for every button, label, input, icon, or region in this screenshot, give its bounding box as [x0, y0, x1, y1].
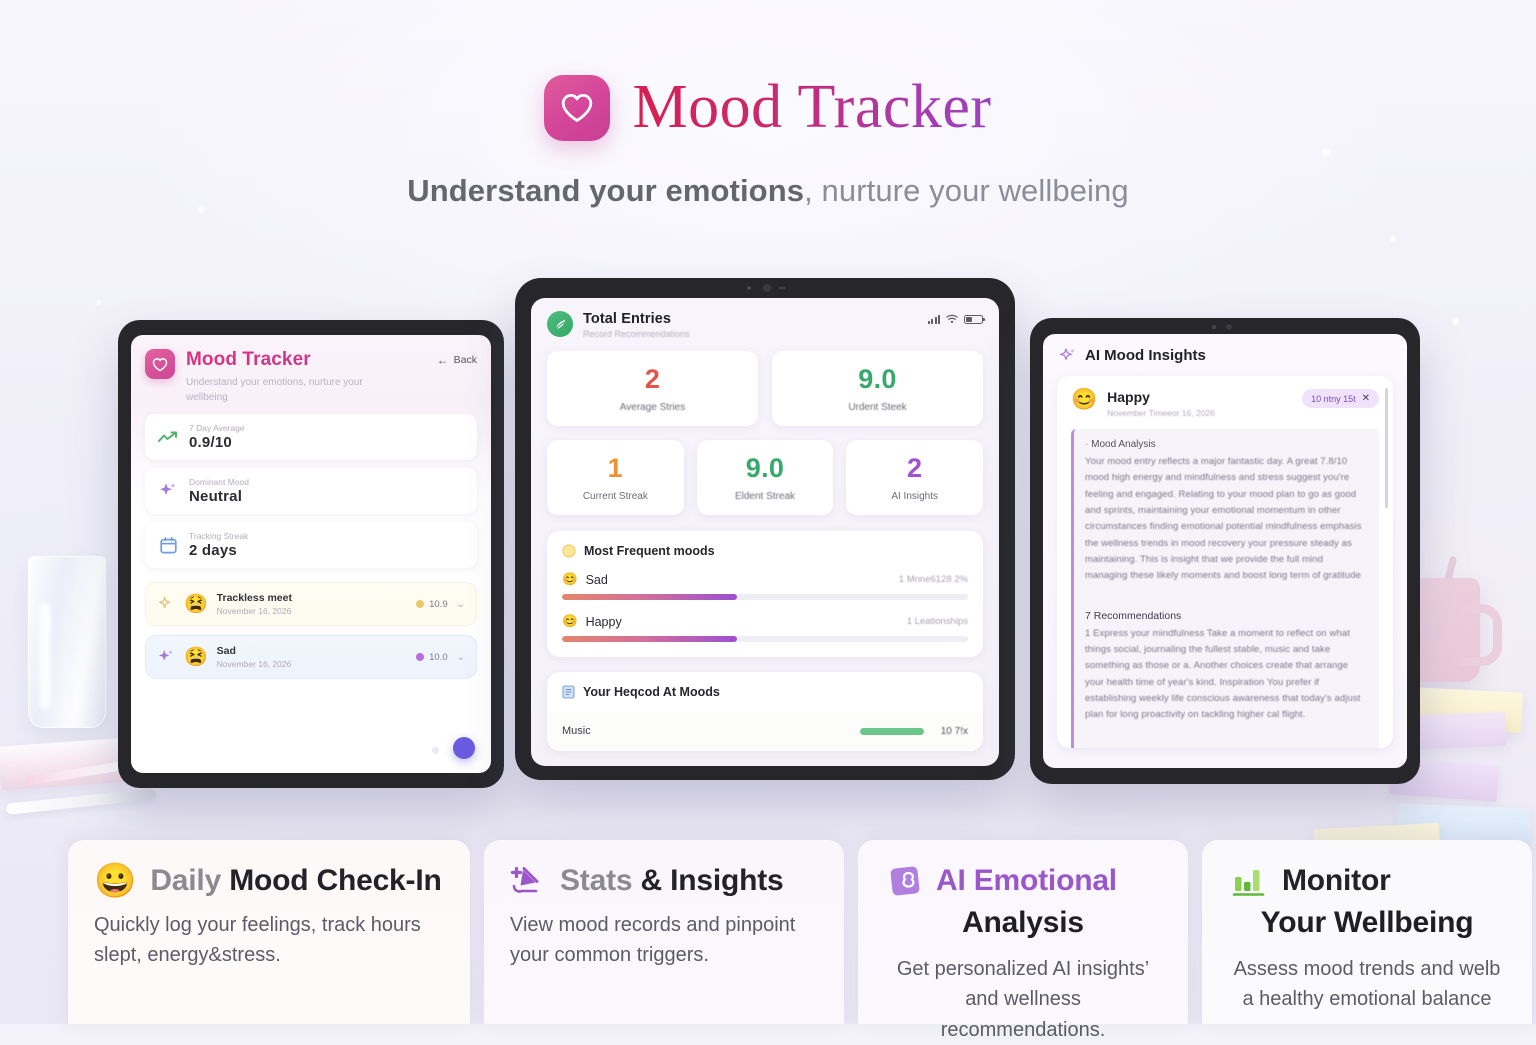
kpi-card-eldent-streak[interactable]: 9.0 Eldent Streak — [697, 440, 834, 515]
kpi-value: 9.0 — [705, 455, 826, 482]
feature-header: Stats & Insights — [510, 864, 818, 898]
triggers-panel: Your Heqcod At Moods Music 10 7!x — [547, 672, 983, 751]
stat-value: Neutral — [189, 488, 249, 505]
stat-value: 2 days — [189, 542, 248, 559]
feature-header: Monitor — [1228, 864, 1506, 898]
back-button[interactable]: ← Back — [437, 349, 477, 367]
mood-entry-date: November 16, 2026 — [217, 659, 407, 669]
stat-label: Tracking Streak — [189, 531, 248, 541]
wifi-icon — [946, 314, 958, 324]
feature-body: Get personalized AI insights’ and wellne… — [884, 954, 1162, 1045]
mood-meta: 1 Mnne6128 2% — [899, 574, 968, 585]
mood-emoji: 😊 — [562, 614, 578, 629]
trigger-row[interactable]: Music 10 7!x — [547, 712, 983, 751]
panel-header: Your Heqcod At Moods — [562, 685, 968, 699]
feature-title-part1: AI Emotional — [936, 864, 1117, 897]
kpi-label: Average Stries — [555, 402, 750, 413]
mood-name: Sad — [586, 573, 608, 587]
sparkle-icon — [157, 480, 179, 502]
add-entry-fab[interactable] — [453, 737, 475, 759]
center-header-text: Total Entries Record Recommendations — [583, 311, 928, 339]
feature-body: Assess mood trends and welb a healthy em… — [1228, 954, 1506, 1015]
feature-title-part1: Monitor — [1282, 864, 1391, 897]
mood-entry-row[interactable]: 😫 Trackless meet November 16, 2026 10.9 … — [145, 582, 477, 626]
kpi-label: Current Streak — [555, 491, 676, 502]
right-app-header: AI Mood Insights — [1043, 334, 1407, 364]
mood-progress-bar — [562, 636, 968, 642]
insight-badge[interactable]: 10 ntny 15t ✕ — [1302, 389, 1379, 408]
feature-card-ai-emotional-analysis[interactable]: AI Emotional Analysis Get personalized A… — [858, 840, 1188, 1024]
mood-name: Happy — [586, 615, 622, 629]
mood-bar-row[interactable]: 😊 Sad 1 Mnne6128 2% — [562, 572, 968, 600]
left-app-subtitle: Understand your emotions, nurture your w… — [186, 375, 382, 405]
panel-title: Most Frequent moods — [584, 544, 715, 558]
trend-up-icon — [157, 426, 179, 448]
feature-header: AI Emotional — [884, 864, 1162, 898]
insight-section-text: Your mood entry reflects a major fantast… — [1085, 454, 1368, 585]
insight-section-heading: Mood Analysis — [1085, 439, 1368, 450]
mood-emoji: 😊 — [1071, 389, 1097, 410]
tablet-device-left: Mood Tracker Understand your emotions, n… — [118, 320, 504, 788]
score-dot-icon — [416, 600, 424, 608]
pencil-left-prop — [6, 788, 156, 815]
scrollbar-thumb[interactable] — [1385, 388, 1389, 508]
stat-card-dominant-mood[interactable]: Dominant Mood Neutral — [145, 468, 477, 514]
kpi-card-average-stries[interactable]: 2 Average Stries — [547, 351, 758, 426]
sparkle-ai-icon — [1059, 347, 1076, 364]
score-value: 10.0 — [429, 652, 448, 663]
signal-icon — [928, 315, 941, 324]
mood-entry-date: November 16, 2026 — [217, 606, 407, 616]
feature-title: Stats & Insights — [560, 864, 784, 898]
mood-emoji: 😫 — [184, 648, 208, 667]
mood-entry-row[interactable]: 😫 Sad November 16, 2026 10.0 ⌄ — [145, 635, 477, 679]
left-stat-list: 7 Day Average 0.9/10 Dominant Mood Neutr… — [131, 405, 491, 568]
ai-insight-card[interactable]: 😊 Happy November Timeeor 16, 2026 10 ntn… — [1057, 376, 1393, 748]
subtitle-rest: , nurture your wellbeing — [804, 173, 1129, 208]
camera-dot-icon — [747, 286, 751, 290]
stat-label: Dominant Mood — [189, 477, 249, 487]
brand-row: Mood Tracker — [0, 72, 1536, 143]
page-header: Mood Tracker Understand your emotions, n… — [0, 0, 1536, 209]
feature-title-part1: Daily — [150, 864, 229, 897]
spacer — [1085, 724, 1368, 736]
chevron-down-icon[interactable]: ⌄ — [457, 599, 465, 610]
close-icon[interactable]: ✕ — [1362, 393, 1370, 404]
stat-card-7day-average[interactable]: 7 Day Average 0.9/10 — [145, 414, 477, 460]
mood-entry-text: Trackless meet November 16, 2026 — [217, 592, 407, 616]
feature-body: Quickly log your feelings, track hours s… — [94, 910, 444, 971]
feature-title-part1: Stats — [560, 864, 641, 897]
panel-header: Most Frequent moods — [562, 544, 968, 558]
mood-entry-score: 10.9 ⌄ — [416, 599, 465, 610]
feature-title: Daily Mood Check-In — [150, 864, 441, 898]
mood-entry-title: Trackless meet — [217, 592, 407, 604]
insight-entry-titles: Happy November Timeeor 16, 2026 — [1107, 389, 1292, 418]
stats-dashboard-screen[interactable]: Total Entries Record Recommendations 2 A — [531, 298, 999, 766]
kpi-card-ai-insights[interactable]: 2 AI Insights — [846, 440, 983, 515]
secondary-dot-icon — [432, 747, 439, 754]
center-header-subtitle: Record Recommendations — [583, 329, 928, 339]
kpi-grid-row-2: 1 Current Streak 9.0 Eldent Streak 2 AI … — [531, 426, 999, 515]
kpi-label: Eldent Streak — [705, 491, 826, 502]
sparkle-decoration — [96, 300, 101, 305]
insight-body: Mood Analysis Your mood entry reflects a… — [1071, 429, 1379, 748]
kpi-grid-row-1: 2 Average Stries 9.0 Urdent Steek — [531, 339, 999, 426]
feature-header: 😀 Daily Mood Check-In — [94, 864, 444, 898]
sparkle-icon — [157, 648, 175, 666]
score-value: 10.9 — [429, 599, 448, 610]
stat-text: 7 Day Average 0.9/10 — [189, 423, 245, 451]
feature-title: AI Emotional — [936, 864, 1117, 898]
circle-icon — [562, 544, 576, 558]
sparkle-decoration — [1390, 236, 1396, 242]
page-title: Mood Tracker — [632, 72, 991, 143]
chevron-down-icon[interactable]: ⌄ — [457, 652, 465, 663]
insight-badge-label: 10 ntny 15t — [1311, 394, 1356, 404]
heart-icon — [145, 349, 175, 379]
battery-icon — [964, 315, 983, 324]
feature-cards-row: 😀 Daily Mood Check-In Quickly log your f… — [68, 840, 1536, 1024]
sparkle-decoration — [1452, 318, 1459, 325]
mood-entry-score: 10.0 ⌄ — [416, 652, 465, 663]
feature-title: Monitor — [1282, 864, 1391, 898]
status-bar — [928, 311, 984, 324]
insight-section-text: 1 Express your mindfulness Take a moment… — [1085, 626, 1368, 724]
kpi-label: Urdent Steek — [780, 402, 975, 413]
mood-emoji: 😫 — [184, 595, 208, 614]
insight-mood-name: Happy — [1107, 389, 1292, 405]
tablet-device-right: AI Mood Insights 😊 Happy November Timeeo… — [1030, 318, 1420, 784]
mood-emoji: 😊 — [562, 572, 578, 587]
kpi-value: 2 — [854, 455, 975, 482]
feature-title-line2: Analysis — [884, 906, 1162, 940]
left-app-titles: Mood Tracker Understand your emotions, n… — [186, 349, 437, 405]
stat-value: 0.9/10 — [189, 434, 245, 451]
spacer — [1085, 585, 1368, 597]
mood-bar-header: 😊 Happy 1 Leationships — [562, 614, 968, 629]
mood-entry-title: Sad — [217, 645, 407, 657]
stat-text: Tracking Streak 2 days — [189, 531, 248, 559]
grinning-face-emoji-icon: 😀 — [94, 864, 136, 898]
back-button-label: Back — [454, 354, 477, 366]
feature-card-monitor-wellbeing[interactable]: Monitor Your Wellbeing Assess mood trend… — [1202, 840, 1532, 1024]
feature-card-daily-mood-check-in[interactable]: 😀 Daily Mood Check-In Quickly log your f… — [68, 840, 470, 1024]
most-frequent-moods-panel: Most Frequent moods 😊 Sad 1 Mnne6128 2% … — [547, 531, 983, 657]
insight-entry-date: November Timeeor 16, 2026 — [1107, 408, 1292, 418]
right-app-title: AI Mood Insights — [1085, 347, 1206, 364]
water-glass-prop — [28, 556, 106, 728]
tablet-device-center: Total Entries Record Recommendations 2 A — [515, 278, 1015, 780]
feature-card-stats-insights[interactable]: Stats & Insights View mood records and p… — [484, 840, 844, 1024]
kpi-card-current-streak[interactable]: 1 Current Streak — [547, 440, 684, 515]
stat-label: 7 Day Average — [189, 423, 245, 433]
page-subtitle: Understand your emotions, nurture your w… — [0, 173, 1536, 209]
kpi-value: 1 — [555, 455, 676, 482]
camera-dot-icon — [1212, 325, 1216, 329]
kpi-value: 2 — [555, 366, 750, 393]
mood-bar-row[interactable]: 😊 Happy 1 Leationships — [562, 614, 968, 642]
camera-lens-icon — [763, 284, 771, 292]
bar-chart-icon — [1232, 865, 1268, 897]
camera-lens-icon — [1226, 324, 1232, 330]
calendar-icon — [157, 534, 179, 556]
kpi-value: 9.0 — [780, 366, 975, 393]
kpi-label: AI Insights — [854, 491, 975, 502]
mood-entry-text: Sad November 16, 2026 — [217, 645, 407, 669]
left-app-header: Mood Tracker Understand your emotions, n… — [131, 335, 491, 405]
ai-brain-icon — [888, 864, 922, 898]
stat-text: Dominant Mood Neutral — [189, 477, 249, 505]
stat-card-tracking-streak[interactable]: Tracking Streak 2 days — [145, 522, 477, 568]
insight-entry-header: 😊 Happy November Timeeor 16, 2026 10 ntn… — [1071, 389, 1379, 418]
note-icon — [562, 685, 575, 699]
feature-body: View mood records and pinpoint your comm… — [510, 910, 818, 971]
trigger-progress-bar — [860, 728, 924, 735]
heart-icon — [544, 75, 610, 141]
ai-insights-screen[interactable]: AI Mood Insights 😊 Happy November Timeeo… — [1043, 334, 1407, 768]
speaker-icon — [779, 287, 785, 289]
arrow-left-icon: ← — [437, 353, 449, 367]
feature-title-line2: Your Wellbeing — [1228, 906, 1506, 940]
trigger-label: Music — [562, 725, 591, 737]
kpi-card-urdent-steek[interactable]: 9.0 Urdent Steek — [772, 351, 983, 426]
sparkle-outline-icon — [157, 595, 175, 613]
magic-wand-icon — [510, 864, 546, 898]
leaf-badge-icon — [547, 311, 573, 337]
left-app-title: Mood Tracker — [186, 349, 437, 371]
mood-bar-header: 😊 Sad 1 Mnne6128 2% — [562, 572, 968, 587]
subtitle-strong: Understand your emotions — [407, 173, 804, 208]
center-app-header: Total Entries Record Recommendations — [531, 298, 999, 339]
insight-section-heading: 7 Recommendations — [1085, 610, 1368, 622]
feature-title-part2: & Insights — [641, 864, 784, 897]
mood-progress-bar — [562, 594, 968, 600]
trigger-value: 10 7!x — [934, 726, 968, 737]
mood-meta: 1 Leationships — [907, 616, 968, 627]
feature-title-part2: Mood Check-In — [229, 864, 441, 897]
mood-tracker-screen[interactable]: Mood Tracker Understand your emotions, n… — [131, 335, 491, 773]
score-dot-icon — [416, 653, 424, 661]
center-header-title: Total Entries — [583, 311, 928, 327]
panel-title: Your Heqcod At Moods — [583, 685, 720, 699]
